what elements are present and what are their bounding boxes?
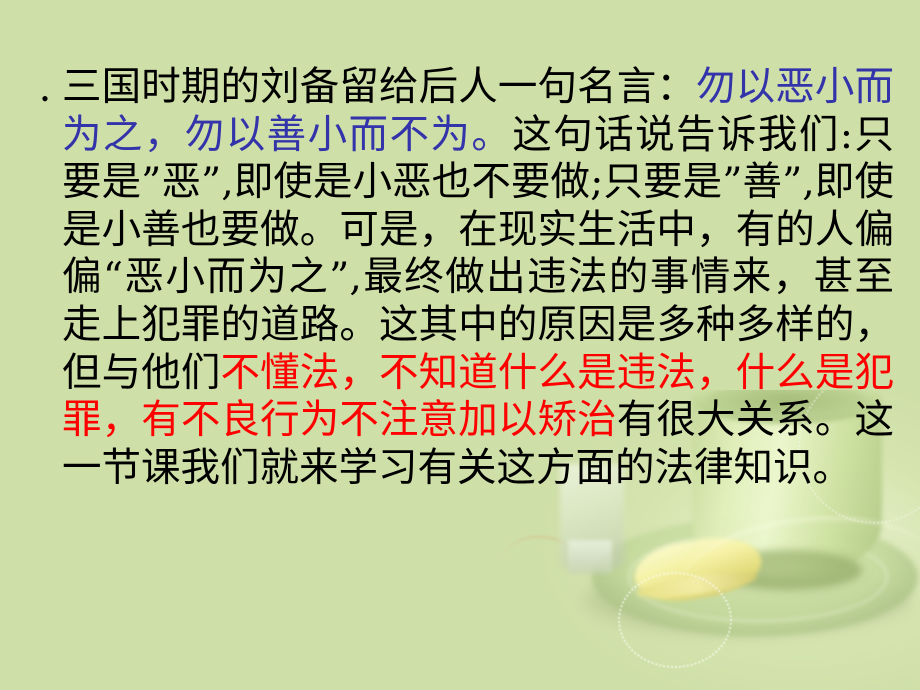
slide-content: • 三国时期的刘备留给后人一句名言：勿以恶小而为之，勿以善小而不为。这句话说告诉… bbox=[0, 0, 920, 690]
bullet-list-item: • 三国时期的刘备留给后人一句名言：勿以恶小而为之，勿以善小而不为。这句话说告诉… bbox=[28, 64, 894, 492]
presentation-slide: • 三国时期的刘备留给后人一句名言：勿以恶小而为之，勿以善小而不为。这句话说告诉… bbox=[0, 0, 920, 690]
text-segment-intro: 三国时期的刘备留给后人一句名言： bbox=[62, 64, 696, 110]
bullet-point-marker: • bbox=[28, 64, 62, 110]
body-paragraph: 三国时期的刘备留给后人一句名言：勿以恶小而为之，勿以善小而不为。这句话说告诉我们… bbox=[62, 64, 894, 492]
